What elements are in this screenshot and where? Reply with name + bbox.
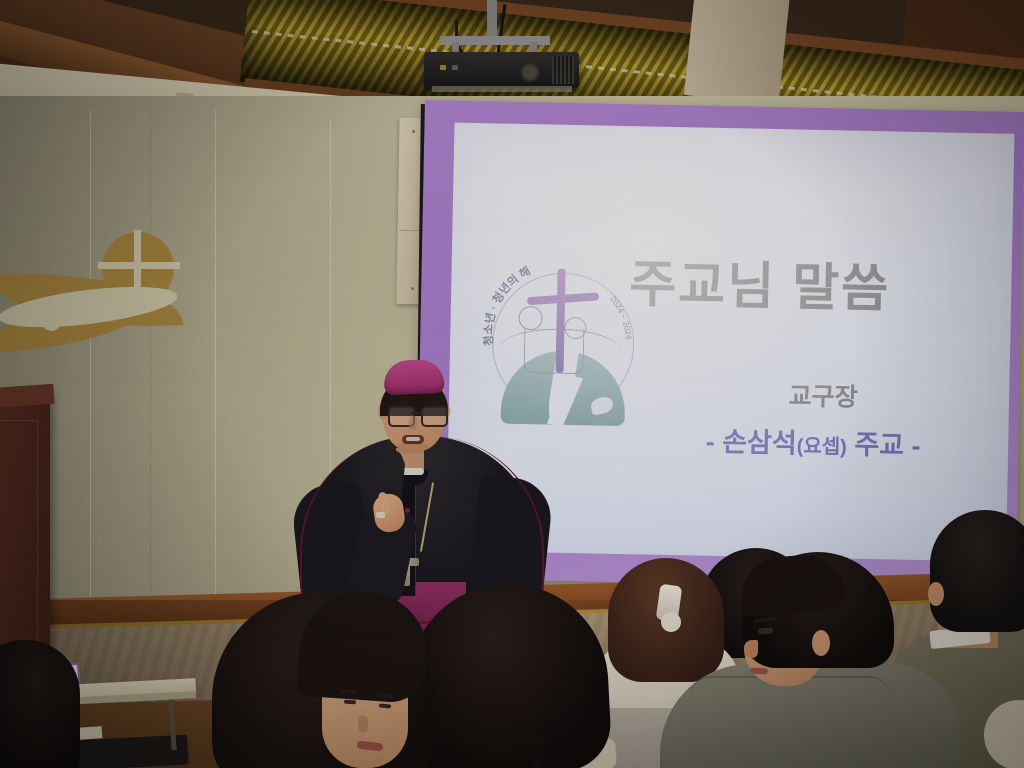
- bishop-zucchetto: [383, 359, 444, 395]
- projector-base-plate: [432, 86, 572, 92]
- bishop-teeth: [406, 437, 420, 441]
- bishop-glasses-bridge: [411, 412, 421, 414]
- bishop-nose: [409, 416, 417, 430]
- wall-panel-screw-icon: [411, 287, 414, 290]
- bishop-ring-icon: [376, 512, 385, 518]
- wall-seam: [215, 110, 216, 630]
- hair: [930, 510, 1024, 632]
- projector-vent-icon: [552, 56, 574, 84]
- podium-front-panel: [0, 420, 38, 652]
- bishop-chin-shadow: [396, 442, 430, 454]
- wall-seam: [150, 110, 151, 630]
- ear: [812, 630, 830, 656]
- ear: [928, 582, 944, 606]
- ceiling-plate: [684, 0, 791, 105]
- hair: [0, 640, 80, 768]
- nose: [744, 640, 758, 658]
- projector-led-secondary-icon: [452, 65, 458, 70]
- photo-scene: 청소년 · 청년의 해 2024 ~ 2026 주교님 말씀 교구장 - 손삼석…: [0, 0, 1024, 768]
- wall-emblem: [0, 232, 195, 367]
- bishop-glasses-lens-right: [421, 406, 448, 427]
- emblem-dot-small-icon: [42, 312, 61, 331]
- nose: [358, 716, 368, 732]
- eye: [344, 700, 356, 705]
- lips: [750, 667, 768, 674]
- emblem-dot-large-icon: [86, 290, 116, 320]
- projector-mount-pole: [487, 0, 497, 40]
- wall-seam: [90, 110, 91, 630]
- projector-led-icon: [440, 65, 446, 70]
- wall-panel-screw-icon: [412, 130, 415, 133]
- emblem-cross-horizontal-icon: [98, 262, 180, 269]
- eye: [758, 627, 773, 634]
- projector-lens-icon: [520, 62, 540, 82]
